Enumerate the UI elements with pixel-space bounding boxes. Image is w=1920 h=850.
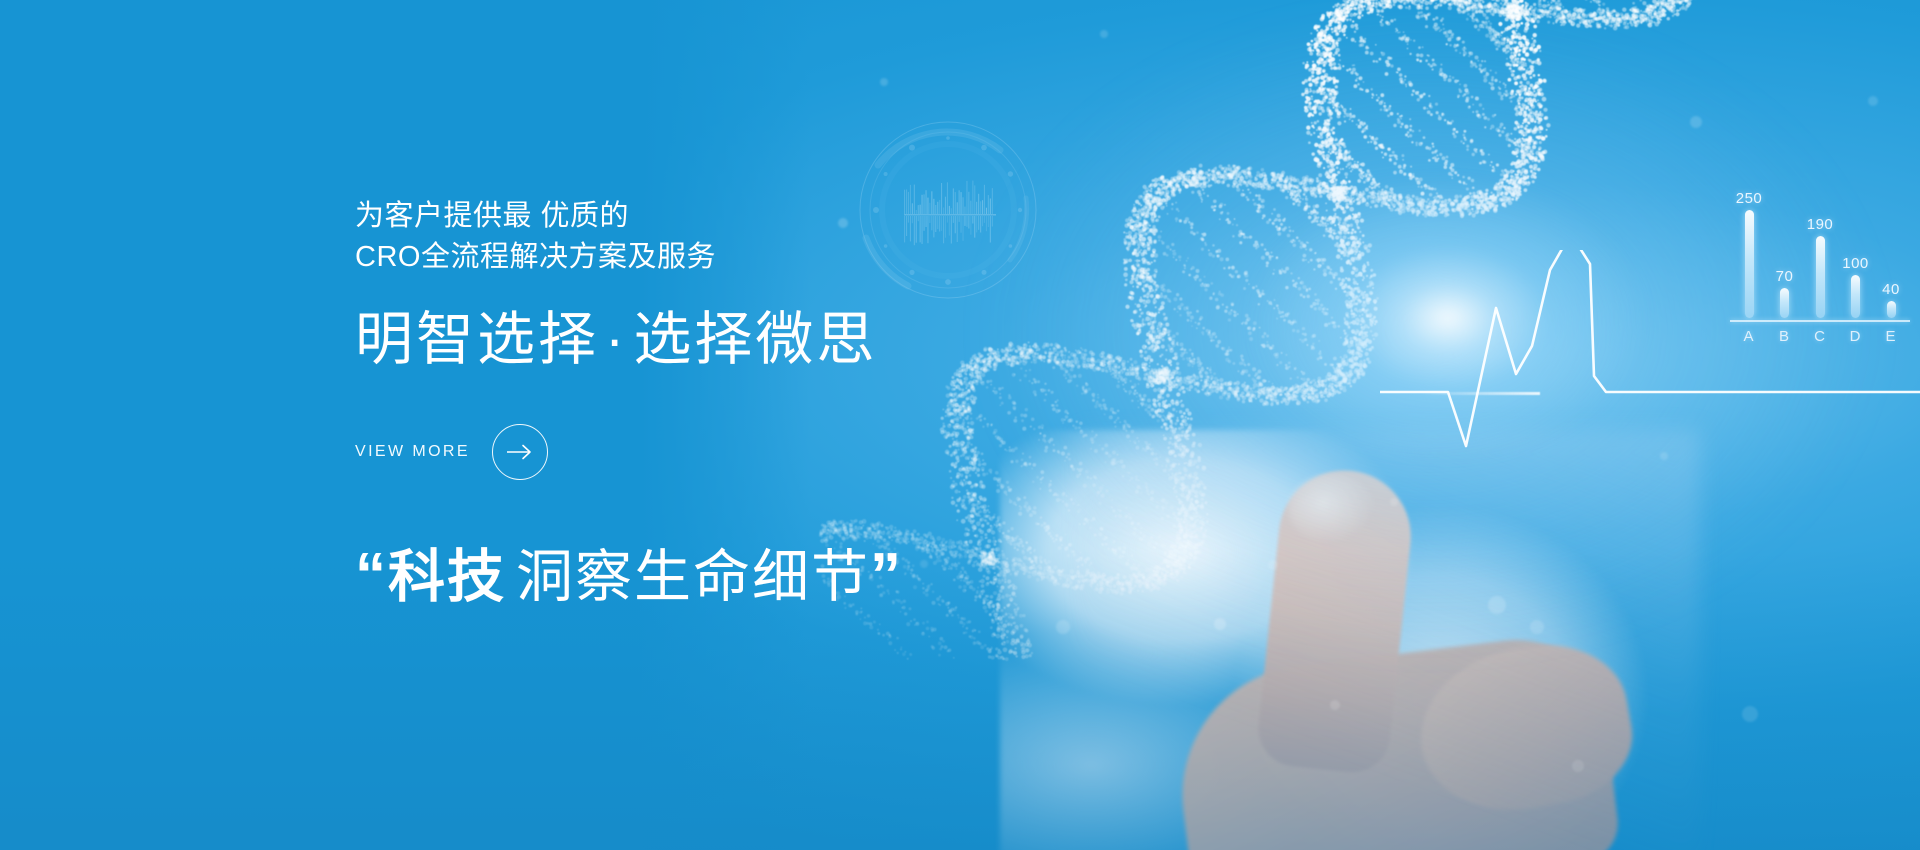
quote-open-mark: “ bbox=[355, 541, 388, 610]
quote-strong-text: 科技 bbox=[388, 545, 506, 609]
hero-headline: 明智选择·选择微思 bbox=[355, 306, 1115, 373]
ecg-line-tail bbox=[1420, 392, 1540, 395]
hero-headline-separator: · bbox=[599, 307, 633, 372]
quote-close-mark: ” bbox=[870, 541, 903, 610]
view-more-label: VIEW MORE bbox=[355, 443, 470, 461]
quote-light-text: 洞察生命细节 bbox=[506, 545, 870, 609]
hero-banner: 2507019010040 ABCDE 为客户提供最 优质的 CRO全流程解决方… bbox=[0, 0, 1920, 850]
hero-subtitle-line-1: 为客户提供最 优质的 bbox=[355, 196, 1115, 237]
arrow-right-icon[interactable] bbox=[492, 424, 548, 480]
hero-subtitle-line-2: CRO全流程解决方案及服务 bbox=[355, 237, 1115, 278]
hero-content: 为客户提供最 优质的 CRO全流程解决方案及服务 明智选择·选择微思 VIEW … bbox=[355, 196, 1115, 610]
hero-quote: “科技洞察生命细节” bbox=[355, 542, 1115, 610]
view-more-button[interactable]: VIEW MORE bbox=[355, 424, 548, 480]
hero-headline-part-1: 明智选择 bbox=[355, 307, 599, 372]
hero-headline-part-2: 选择微思 bbox=[633, 307, 877, 372]
